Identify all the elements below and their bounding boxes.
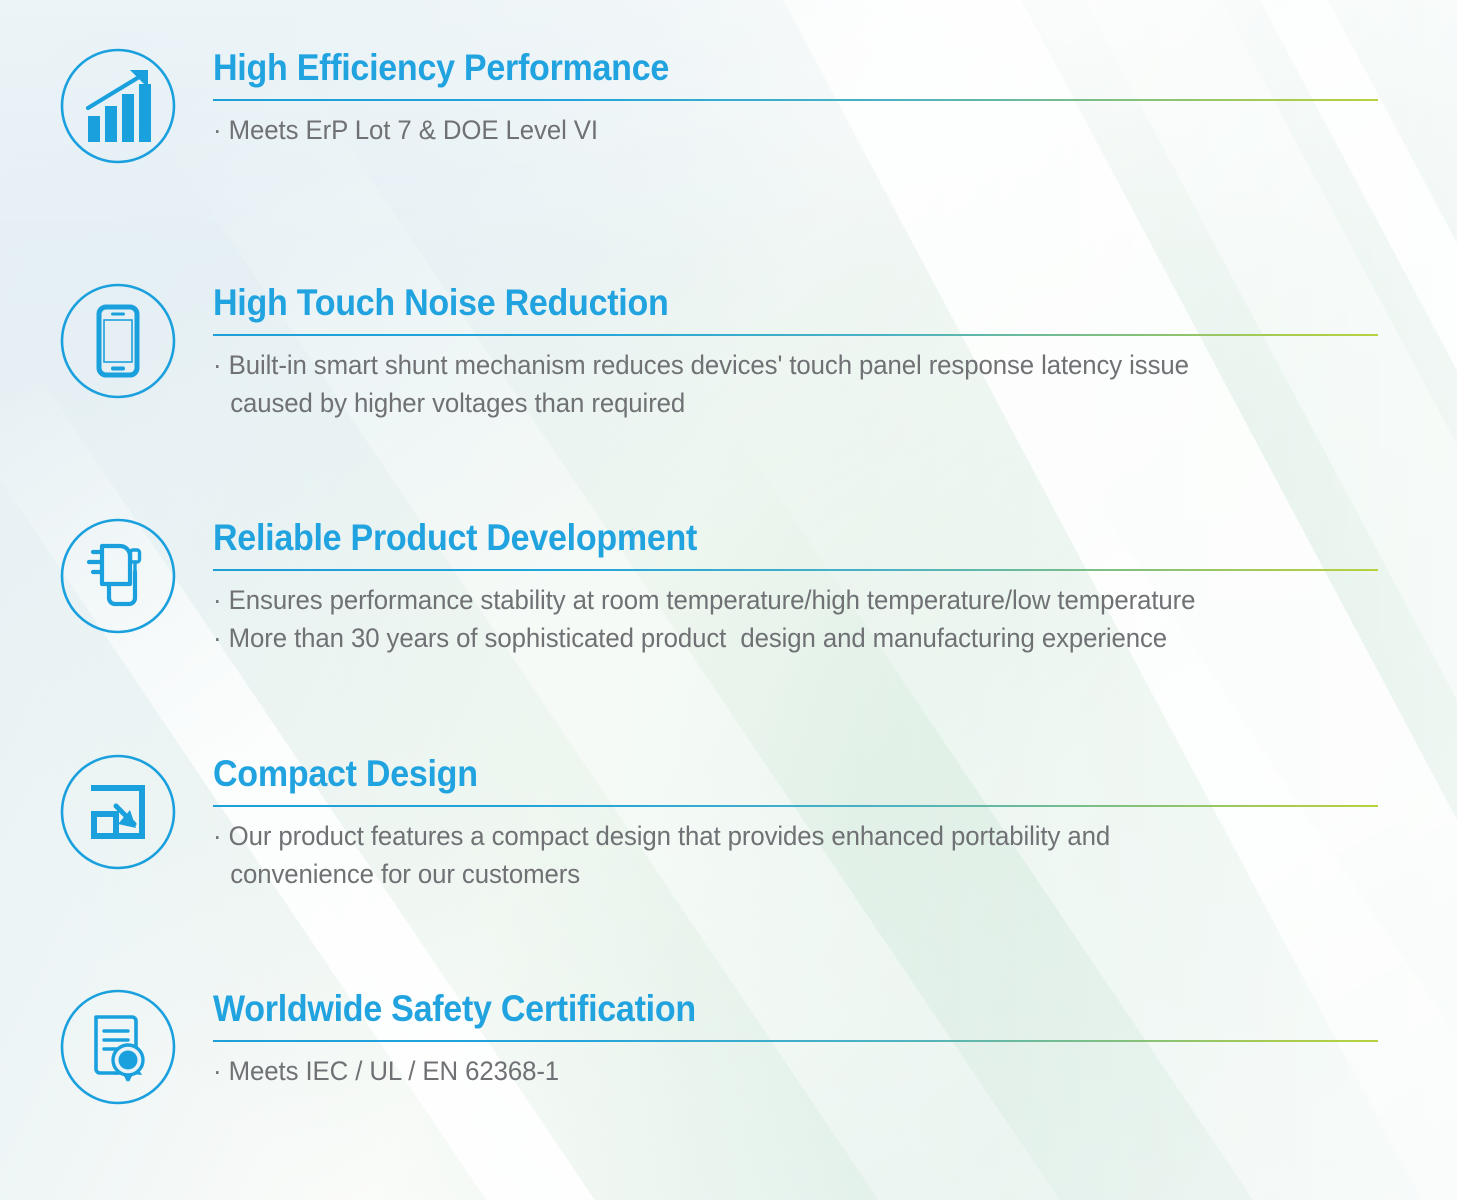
- feature-item-high-efficiency-performance: High Efficiency Performance · Meets ErP …: [0, 46, 1457, 166]
- compact-shrink-icon: [58, 752, 178, 872]
- feature-divider: [213, 569, 1378, 571]
- feature-title: Compact Design: [213, 752, 1285, 796]
- feature-bullets: · Meets IEC / UL / EN 62368-1: [213, 1052, 1378, 1090]
- bullet-text: convenience for our customers: [213, 855, 580, 893]
- bullet-marker: ·: [213, 821, 222, 851]
- feature-list: High Efficiency Performance · Meets ErP …: [0, 0, 1457, 1200]
- feature-divider: [213, 1040, 1378, 1042]
- feature-title: High Efficiency Performance: [213, 46, 1285, 90]
- bullet-text: Built-in smart shunt mechanism reduces d…: [229, 350, 1189, 380]
- bullet-text: Our product features a compact design th…: [229, 821, 1110, 851]
- bullet-text: Ensures performance stability at room te…: [229, 585, 1196, 615]
- bullet-marker: ·: [213, 623, 222, 653]
- feature-text-block: High Efficiency Performance · Meets ErP …: [213, 46, 1457, 149]
- feature-item-compact-design: Compact Design · Our product features a …: [0, 752, 1457, 893]
- feature-item-worldwide-safety-certification: Worldwide Safety Certification · Meets I…: [0, 987, 1457, 1107]
- bullet-line: · Our product features a compact design …: [213, 817, 1326, 855]
- feature-bullets: · Meets ErP Lot 7 & DOE Level VI: [213, 111, 1378, 149]
- bar-chart-growth-icon: [58, 46, 178, 166]
- bullet-marker: ·: [213, 115, 222, 145]
- bullet-line: · Ensures performance stability at room …: [213, 581, 1326, 619]
- feature-bullets: · Our product features a compact design …: [213, 817, 1378, 893]
- feature-title: Reliable Product Development: [213, 516, 1285, 560]
- feature-text-block: Reliable Product Development · Ensures p…: [213, 516, 1457, 657]
- bullet-text: caused by higher voltages than required: [213, 384, 685, 422]
- bullet-marker: ·: [213, 1056, 222, 1086]
- bullet-marker: ·: [213, 350, 222, 380]
- bullet-line: · Meets IEC / UL / EN 62368-1: [213, 1052, 1326, 1090]
- bullet-line: · Meets ErP Lot 7 & DOE Level VI: [213, 111, 1326, 149]
- feature-text-block: Compact Design · Our product features a …: [213, 752, 1457, 893]
- certificate-award-icon: [58, 987, 178, 1107]
- feature-icon-container: [50, 987, 186, 1107]
- feature-title: High Touch Noise Reduction: [213, 281, 1285, 325]
- feature-icon-container: [50, 281, 186, 401]
- feature-item-high-touch-noise-reduction: High Touch Noise Reduction · Built-in sm…: [0, 281, 1457, 422]
- bullet-line-continued: convenience for our customers: [213, 855, 1326, 893]
- smartphone-icon: [58, 281, 178, 401]
- feature-title: Worldwide Safety Certification: [213, 987, 1285, 1031]
- feature-divider: [213, 334, 1378, 336]
- power-adapter-icon: [58, 516, 178, 636]
- feature-icon-container: [50, 752, 186, 872]
- feature-bullets: · Built-in smart shunt mechanism reduces…: [213, 346, 1378, 422]
- bullet-line: · Built-in smart shunt mechanism reduces…: [213, 346, 1326, 384]
- feature-icon-container: [50, 46, 186, 166]
- feature-item-reliable-product-development: Reliable Product Development · Ensures p…: [0, 516, 1457, 657]
- feature-icon-container: [50, 516, 186, 636]
- bullet-line: · More than 30 years of sophisticated pr…: [213, 619, 1326, 657]
- bullet-line-continued: caused by higher voltages than required: [213, 384, 1326, 422]
- feature-divider: [213, 99, 1378, 101]
- feature-text-block: High Touch Noise Reduction · Built-in sm…: [213, 281, 1457, 422]
- bullet-text: More than 30 years of sophisticated prod…: [229, 623, 1167, 653]
- bullet-marker: ·: [213, 585, 222, 615]
- bullet-text: Meets IEC / UL / EN 62368-1: [229, 1056, 559, 1086]
- feature-text-block: Worldwide Safety Certification · Meets I…: [213, 987, 1457, 1090]
- feature-divider: [213, 805, 1378, 807]
- bullet-text: Meets ErP Lot 7 & DOE Level VI: [229, 115, 598, 145]
- feature-bullets: · Ensures performance stability at room …: [213, 581, 1378, 657]
